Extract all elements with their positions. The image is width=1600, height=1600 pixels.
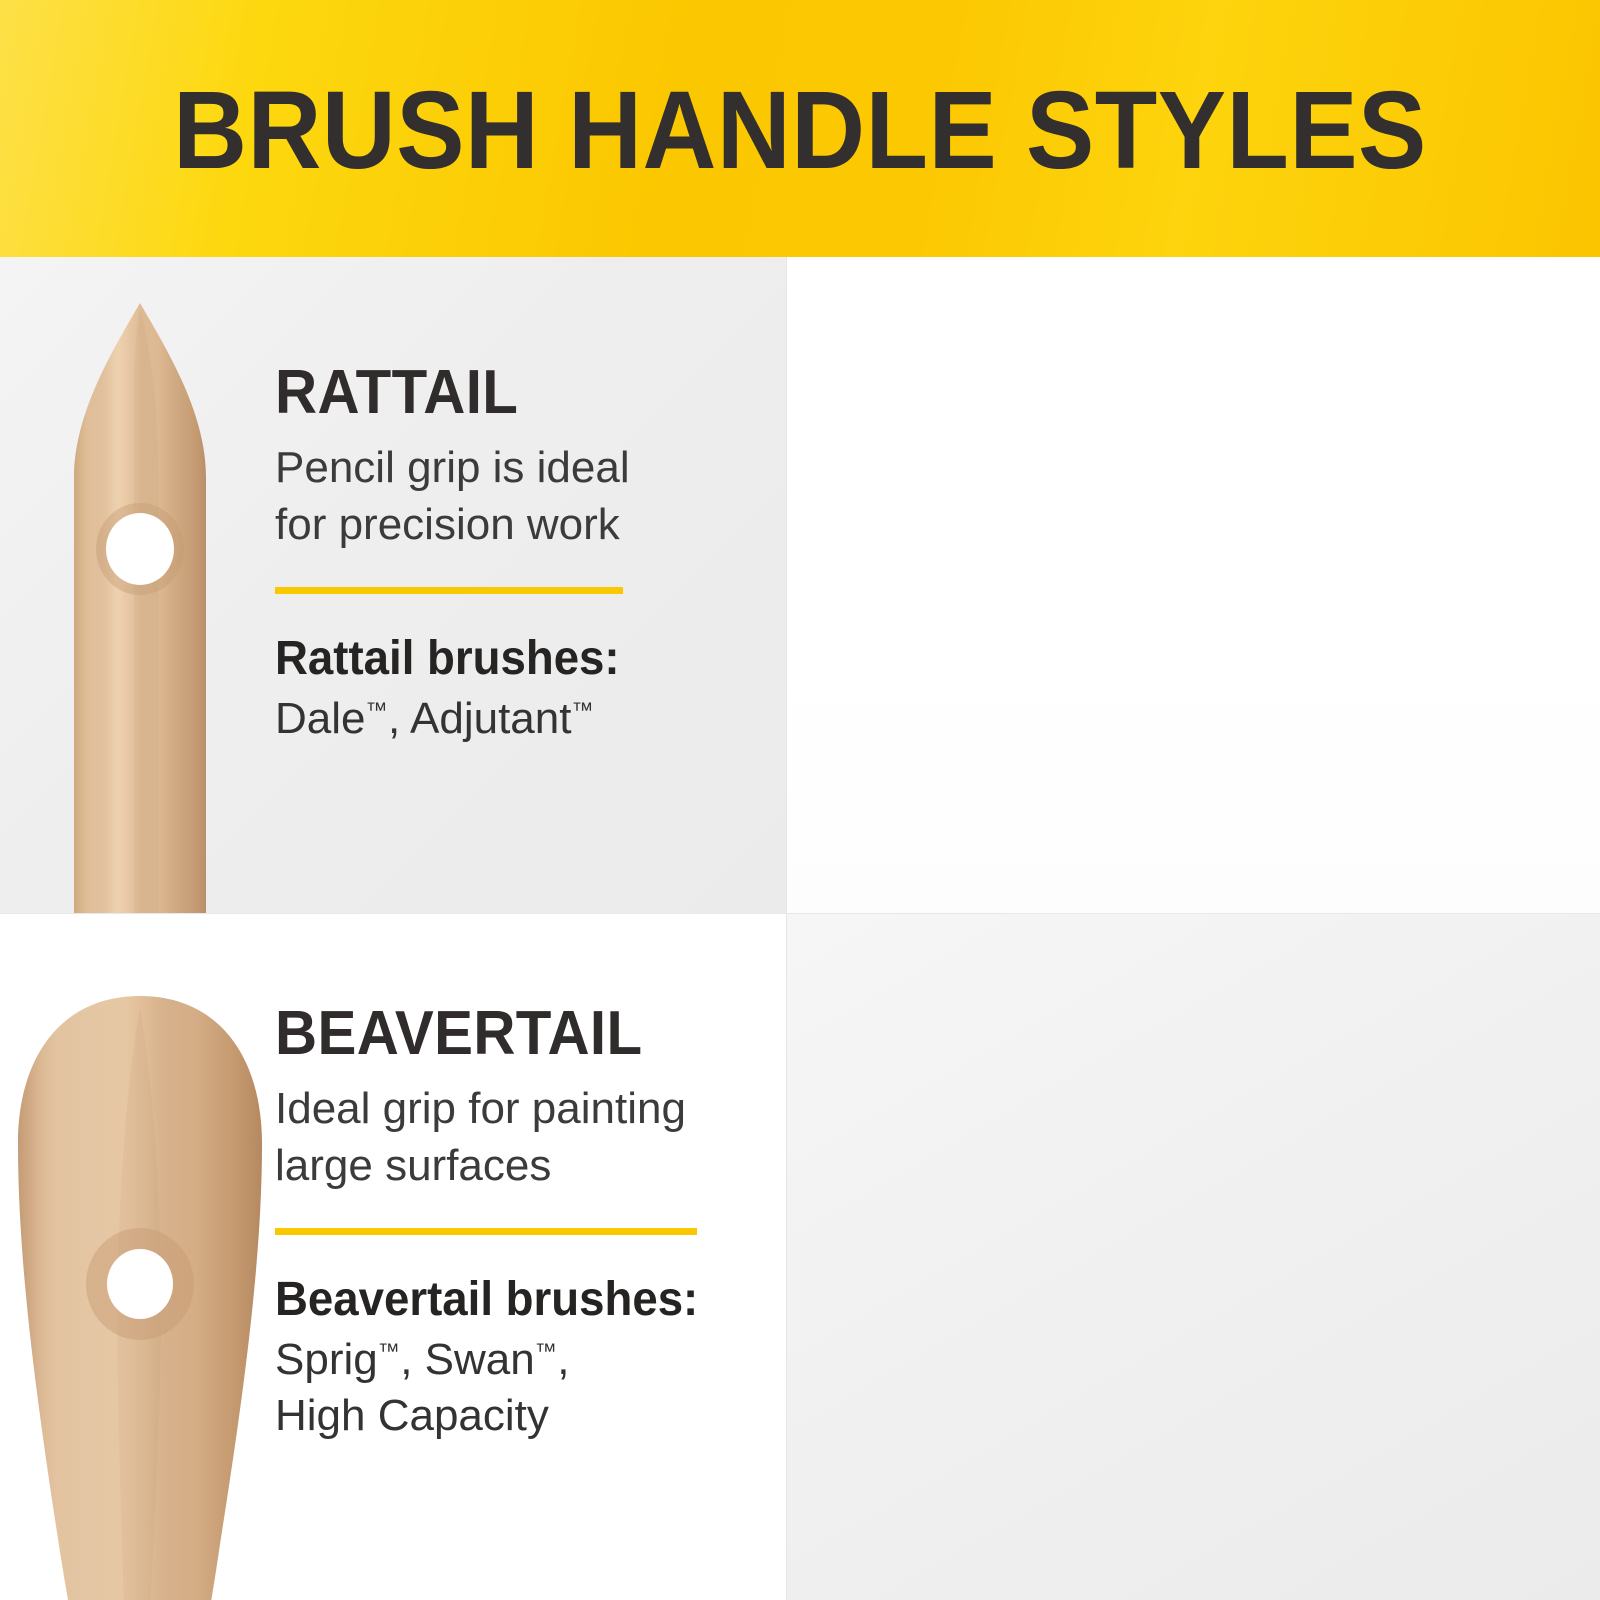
style-description-beavertail: Ideal grip for painting large surfaces [275,1080,715,1194]
brushes-label-beavertail: Beavertail brushes: [275,1275,693,1326]
infographic-page: BRUSH HANDLE STYLES [0,0,1600,1600]
style-name-rattail: RATTAIL [275,361,632,425]
quadrant-short[interactable]: SHORT Handle won’t get in the way when p… [787,914,1600,1600]
quadrant-rattail[interactable]: RATTAIL Pencil grip is ideal for precisi… [0,257,786,913]
style-description-rattail: Pencil grip is ideal for precision work [275,439,655,553]
quadrant-beavertail[interactable]: BEAVERTAIL Ideal grip for painting large… [0,914,786,1600]
styles-grid: RATTAIL Pencil grip is ideal for precisi… [0,257,1600,1600]
beavertail-handle-icon [0,984,290,1600]
grid-divider-horizontal [0,913,1600,914]
brushes-list-rattail: Dale™, Adjutant™ [275,691,655,747]
rattail-handle-icon [60,299,220,913]
brushes-list-beavertail: Sprig™, Swan™,High Capacity [275,1332,715,1445]
rattail-text-block: RATTAIL Pencil grip is ideal for precisi… [275,361,655,747]
beavertail-text-block: BEAVERTAIL Ideal grip for painting large… [275,1002,715,1445]
header-banner: BRUSH HANDLE STYLES [0,0,1600,257]
quadrant-fluted[interactable]: FLUTED Rests easily in your hand Fluted … [787,257,1600,913]
style-name-beavertail: BEAVERTAIL [275,1002,689,1066]
brushes-label-rattail: Rattail brushes: [275,634,636,685]
accent-rule-beavertail [275,1228,697,1235]
accent-rule-rattail [275,587,623,594]
grid-divider-vertical [786,257,787,1600]
page-title: BRUSH HANDLE STYLES [173,72,1427,186]
